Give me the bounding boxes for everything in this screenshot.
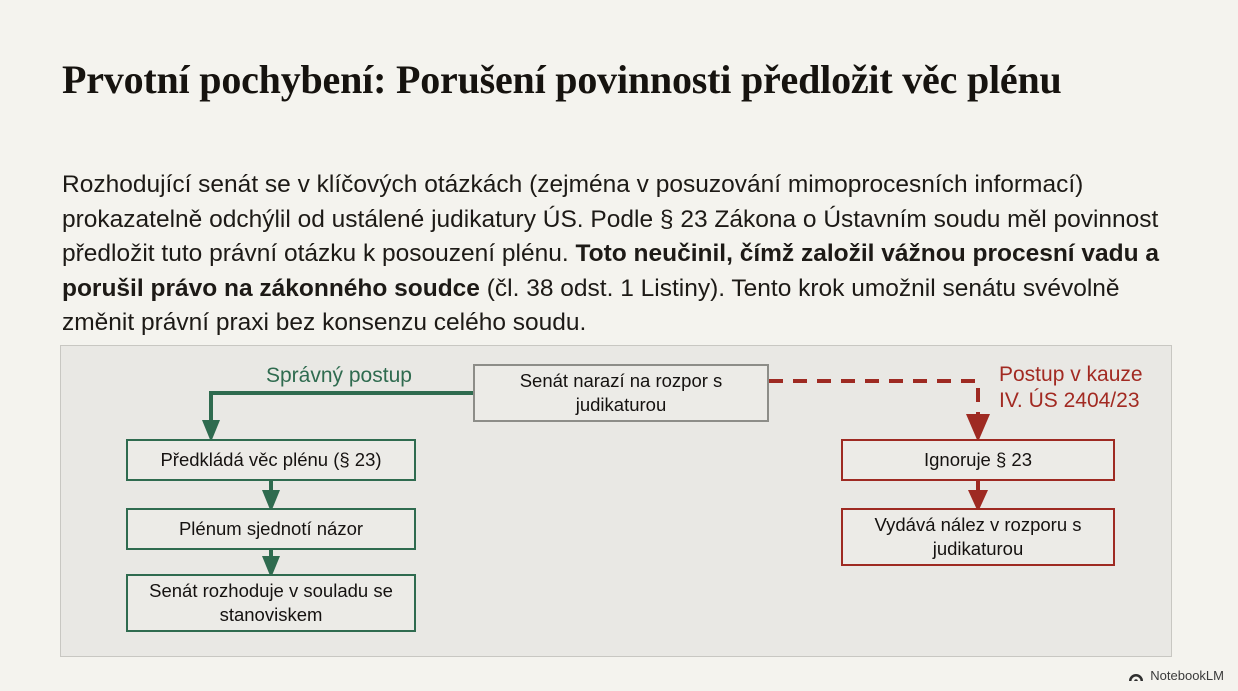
flow-node-ignores-section-23: Ignoruje § 23 — [841, 439, 1115, 481]
branch-label-case-path: Postup v kauze IV. ÚS 2404/23 — [999, 362, 1143, 414]
flow-diagram-panel: Správný postup Postup v kauze IV. ÚS 240… — [60, 345, 1172, 657]
notebooklm-spiral-icon — [1128, 669, 1144, 682]
branch-label-correct-path: Správný postup — [266, 363, 412, 389]
flow-node-senate-decides-in-line: Senát rozhoduje v souladu se stanoviskem — [126, 574, 416, 632]
branch-label-case-line-1: Postup v kauze — [999, 362, 1143, 388]
branch-label-case-line-2: IV. ÚS 2404/23 — [999, 388, 1143, 414]
flow-node-plenum-unifies: Plénum sjednotí názor — [126, 508, 416, 550]
body-paragraph: Rozhodující senát se v klíčových otázkác… — [62, 168, 1178, 341]
flow-node-senate-conflict: Senát narazí na rozpor s judikaturou — [473, 364, 769, 422]
flow-node-submit-to-plenum: Předkládá věc plénu (§ 23) — [126, 439, 416, 481]
slide-canvas: Prvotní pochybení: Porušení povinnosti p… — [0, 0, 1238, 691]
notebooklm-label: NotebookLM — [1150, 668, 1224, 683]
flow-node-issues-conflicting-ruling: Vydává nález v rozporu s judikaturou — [841, 508, 1115, 566]
page-title: Prvotní pochybení: Porušení povinnosti p… — [62, 58, 1172, 102]
notebooklm-watermark: NotebookLM — [1128, 668, 1224, 683]
